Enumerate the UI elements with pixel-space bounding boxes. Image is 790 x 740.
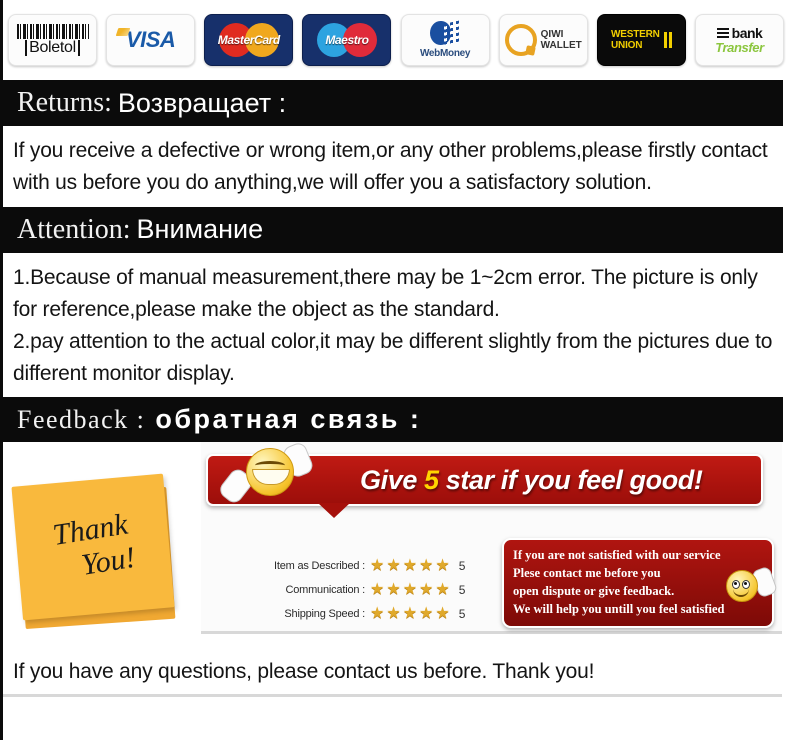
star-icon: ★: [370, 606, 384, 622]
notice-line-4: We will help you untill you feel satisfi…: [513, 601, 763, 619]
payment-icon-visa: VISA: [106, 14, 195, 66]
western-union-label-line2: UNION: [611, 40, 642, 51]
star-icon: ★: [386, 606, 400, 622]
star-icon: ★: [435, 582, 449, 598]
payment-icon-maestro: Maestro: [302, 14, 391, 66]
qiwi-label-line1: QIWI: [541, 29, 564, 40]
payment-icon-boleto: Boletol: [8, 14, 97, 66]
star-icon: ★: [435, 558, 449, 574]
star-icon: ★: [419, 558, 433, 574]
attention-section-header: Attention: Внимание: [3, 207, 783, 253]
footer-contact-text: If you have any questions, please contac…: [3, 652, 790, 684]
qiwi-label-line2: WALLET: [541, 40, 582, 51]
rating-stars: ★ ★ ★ ★ ★: [370, 582, 450, 598]
banner-text-post: star if you feel good!: [439, 465, 703, 495]
star-icon: ★: [386, 558, 400, 574]
star-icon: ★: [419, 582, 433, 598]
webmoney-mark-icon: [430, 21, 460, 47]
star-icon: ★: [403, 558, 417, 574]
visa-swoosh-icon: [116, 28, 131, 36]
star-icon: ★: [403, 582, 417, 598]
visa-label: VISA: [126, 27, 175, 53]
contact-before-dispute-notice: If you are not satisfied with our servic…: [502, 538, 774, 628]
rating-label: Item as Described :: [249, 560, 370, 572]
boleto-label: Boletol: [25, 40, 80, 56]
star-icon: ★: [370, 582, 384, 598]
rating-label: Communication :: [249, 584, 370, 596]
maestro-label: Maestro: [311, 33, 383, 47]
returns-body-text: If you receive a defective or wrong item…: [13, 135, 776, 199]
western-union-label-line1: WESTERN: [611, 29, 660, 40]
rating-stars: ★ ★ ★ ★ ★: [370, 558, 450, 574]
webmoney-label: WebMoney: [420, 48, 470, 59]
barcode-icon: [17, 24, 89, 39]
rating-row-shipping-speed: Shipping Speed : ★ ★ ★ ★ ★ 5: [249, 602, 465, 626]
payment-icon-mastercard: MasterCard: [204, 14, 293, 66]
western-union-bars-icon: [664, 32, 672, 48]
attention-heading-ru: Внимание: [137, 214, 264, 245]
bank-transfer-label-line1: bank: [732, 25, 763, 41]
feedback-section-header: Feedback : обратная связь :: [3, 397, 783, 442]
payment-icon-webmoney: WebMoney: [401, 14, 490, 66]
rating-label: Shipping Speed :: [249, 608, 370, 620]
product-description-page: Boletol VISA MasterCard Maestro: [0, 0, 790, 740]
payment-icon-western-union: WESTERN UNION: [597, 14, 686, 66]
sticky-line-2: You!: [80, 543, 138, 581]
thank-you-sticky-note: Thank You!: [17, 480, 177, 630]
star-icon: ★: [386, 582, 400, 598]
returns-heading-ru: Возвращает :: [118, 88, 286, 119]
payment-methods-strip: Boletol VISA MasterCard Maestro: [3, 0, 790, 80]
feedback-heading-en: Feedback :: [17, 405, 145, 435]
footer-text: If you have any questions, please contac…: [13, 660, 594, 683]
rating-row-item-as-described: Item as Described : ★ ★ ★ ★ ★ 5: [249, 554, 465, 578]
mastercard-label: MasterCard: [213, 33, 285, 47]
returns-section-header: Returns: Возвращает :: [3, 80, 783, 126]
footer-divider: [3, 694, 782, 697]
feedback-graphic: Thank You! Give 5 star if you feel good!…: [3, 442, 790, 652]
mastercard-circles-icon: MasterCard: [213, 21, 285, 59]
star-icon: ★: [403, 606, 417, 622]
payment-icon-bank-transfer: bank Transfer: [695, 14, 784, 66]
banner-text-pre: Give: [360, 465, 424, 495]
attention-line-1: 1.Because of manual measurement,there ma…: [13, 262, 776, 326]
bank-transfer-label-line2: Transfer: [715, 40, 764, 55]
rating-row-communication: Communication : ★ ★ ★ ★ ★ 5: [249, 578, 465, 602]
rating-value: 5: [459, 583, 466, 597]
attention-heading-en: Attention:: [17, 214, 131, 246]
star-icon: ★: [419, 606, 433, 622]
returns-heading-en: Returns:: [17, 87, 112, 119]
rating-list: Item as Described : ★ ★ ★ ★ ★ 5 Communic…: [249, 554, 465, 626]
banner-star-count: 5: [424, 465, 439, 495]
attention-line-2: 2.pay attention to the actual color,it m…: [13, 326, 776, 390]
notice-line-2: Plese contact me before you: [513, 565, 763, 583]
feedback-heading-ru: обратная связь :: [155, 404, 421, 435]
star-icon: ★: [370, 558, 384, 574]
visa-text: VISA: [126, 27, 175, 52]
maestro-circles-icon: Maestro: [311, 21, 383, 59]
attention-body: 1.Because of manual measurement,there ma…: [3, 253, 790, 398]
payment-icon-qiwi-wallet: QIWI WALLET: [499, 14, 588, 66]
rating-stars: ★ ★ ★ ★ ★: [370, 606, 450, 622]
qiwi-q-icon: [505, 24, 537, 56]
notice-line-1: If you are not satisfied with our servic…: [513, 547, 763, 565]
rating-value: 5: [459, 559, 466, 573]
star-icon: ★: [435, 606, 449, 622]
returns-body: If you receive a defective or wrong item…: [3, 126, 790, 207]
bank-lines-icon: [717, 28, 729, 38]
rating-value: 5: [459, 607, 466, 621]
